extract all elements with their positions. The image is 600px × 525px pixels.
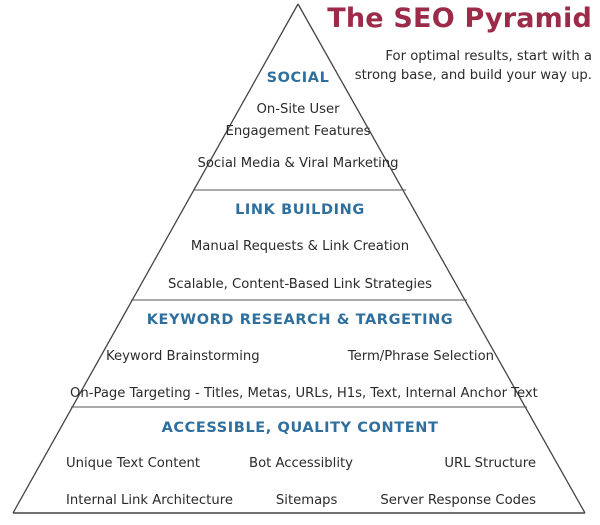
tier-social-item-2: Engagement Features [178,121,418,143]
tier-title-keyword-research: KEYWORD RESEARCH & TARGETING [70,312,530,328]
tier-social-item-3-wrap: Social Media & Viral Marketing [178,154,418,173]
tier-content-row-2: Internal Link Architecture Sitemaps Serv… [20,491,580,510]
tier-social-item-3: Social Media & Viral Marketing [178,154,418,173]
tier-content-row-1-cell-3: URL Structure [379,454,556,473]
tier-keyword-research-column-1: Keyword Brainstorming [106,347,260,366]
tier-content-row-2-cell-3: Server Response Codes [380,491,556,510]
tier-title-accessible-quality-content: ACCESSIBLE, QUALITY CONTENT [20,420,580,436]
pyramid-tier-accessible-quality-content: ACCESSIBLE, QUALITY CONTENT Unique Text … [20,420,580,510]
tier-keyword-research-columns: Keyword Brainstorming Term/Phrase Select… [70,347,530,366]
tier-social-item-1: On-Site User [178,99,418,121]
tier-title-social: SOCIAL [178,70,418,86]
pyramid-tier-link-building: LINK BUILDING Manual Requests & Link Cre… [130,202,470,294]
tier-keyword-research-fullrow: On-Page Targeting - Titles, Metas, URLs,… [70,384,530,403]
tier-link-building-item-1-wrap: Manual Requests & Link Creation [130,237,470,256]
tier-link-building-item-2: Scalable, Content-Based Link Strategies [130,275,470,294]
page-title: The SEO Pyramid [324,2,592,36]
tier-title-link-building: LINK BUILDING [130,202,470,218]
tier-social-items: On-Site User Engagement Features [178,99,418,143]
tier-content-row-1-cell-1: Unique Text Content [44,454,223,473]
tier-link-building-item-1: Manual Requests & Link Creation [130,237,470,256]
tier-content-row-1: Unique Text Content Bot Accessiblity URL… [20,454,580,473]
pyramid-tier-social: SOCIAL On-Site User Engagement Features … [178,70,418,173]
tier-link-building-item-2-wrap: Scalable, Content-Based Link Strategies [130,275,470,294]
tier-content-row-2-cell-1: Internal Link Architecture [44,491,233,510]
seo-pyramid-diagram: The SEO Pyramid For optimal results, sta… [0,0,600,525]
tier-content-row-2-cell-2: Sitemaps [233,491,380,510]
tier-keyword-research-fullrow-wrap: On-Page Targeting - Titles, Metas, URLs,… [70,384,530,403]
tier-keyword-research-column-2: Term/Phrase Selection [348,347,494,366]
tier-content-row-1-cell-2: Bot Accessiblity [223,454,380,473]
subtitle-line-1: For optimal results, start with a [324,47,592,66]
pyramid-tier-keyword-research: KEYWORD RESEARCH & TARGETING Keyword Bra… [70,312,530,403]
